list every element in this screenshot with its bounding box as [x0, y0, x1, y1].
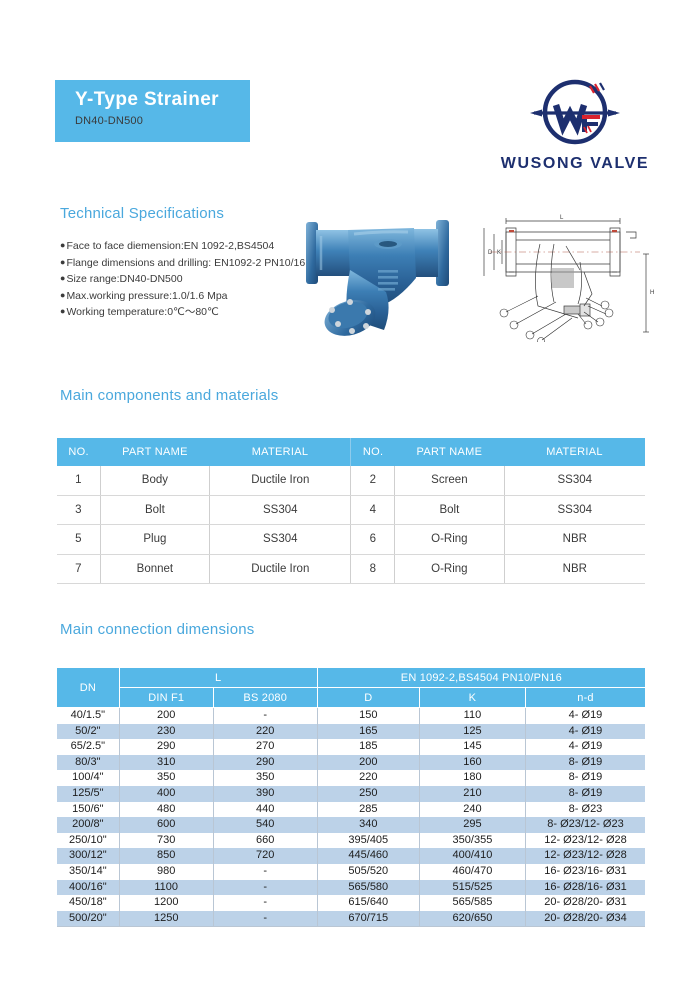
cell-k: 565/585: [419, 895, 525, 911]
cell-d: 165: [317, 724, 419, 740]
table-row: 7 Bonnet Ductile Iron 8 O-Ring NBR: [57, 554, 645, 584]
cell-dn: 200/8": [57, 817, 119, 833]
cell-k: 350/355: [419, 833, 525, 849]
cell-din: 400: [119, 786, 213, 802]
cell-nd: 8- Ø19: [526, 755, 646, 771]
cell-din: 1100: [119, 880, 213, 896]
spec-item: ●Max.working pressure:1.0/1.6 Mpa: [60, 288, 310, 305]
dim-col-bs2080: BS 2080: [213, 688, 317, 708]
table-row: 5 Plug SS304 6 O-Ring NBR: [57, 525, 645, 555]
cell-part: Bonnet: [100, 554, 209, 584]
spec-text: Flange dimensions and drilling: EN1092-2…: [66, 257, 305, 269]
materials-col-no-2: NO.: [351, 438, 395, 466]
cell-no: 8: [351, 554, 395, 584]
table-row: 450/18"1200-615/640565/58520- Ø28/20- Ø3…: [57, 895, 645, 911]
cell-bs: -: [213, 864, 317, 880]
cell-bs: 270: [213, 739, 317, 755]
cell-d: 185: [317, 739, 419, 755]
cell-no: 5: [57, 525, 100, 555]
cell-k: 460/470: [419, 864, 525, 880]
table-row: 3 Bolt SS304 4 Bolt SS304: [57, 495, 645, 525]
cell-material: SS304: [210, 495, 351, 525]
cell-nd: 12- Ø23/12- Ø28: [526, 848, 646, 864]
cross-section-drawing: L D K H: [480, 214, 660, 342]
cell-din: 350: [119, 770, 213, 786]
cell-d: 250: [317, 786, 419, 802]
cell-part: Body: [100, 466, 209, 495]
materials-table-header-row: NO. PART NAME MATERIAL NO. PART NAME MAT…: [57, 438, 645, 466]
cell-bs: 720: [213, 848, 317, 864]
cell-k: 295: [419, 817, 525, 833]
dimensions-sub-header-row: DIN F1 BS 2080 D K n-d: [57, 688, 645, 708]
product-photo: [288, 214, 473, 344]
dim-group-l: L: [119, 668, 317, 688]
cell-dn: 125/5": [57, 786, 119, 802]
title-banner: Y-Type Strainer DN40-DN500: [55, 80, 250, 142]
dim-col-dn: DN: [57, 668, 119, 708]
cell-k: 110: [419, 708, 525, 724]
table-row: 1 Body Ductile Iron 2 Screen SS304: [57, 466, 645, 495]
cell-bs: -: [213, 708, 317, 724]
dimensions-table-body: 40/1.5"200-1501104- Ø19 50/2"23022016512…: [57, 708, 645, 927]
spec-text: Working temperature:0℃～80℃: [66, 306, 218, 318]
brand-logo: WUSONG VALVE: [490, 75, 660, 185]
table-row: 150/6"4804402852408- Ø23: [57, 802, 645, 818]
cell-d: 615/640: [317, 895, 419, 911]
section-heading-dimensions: Main connection dimensions: [60, 621, 254, 638]
cell-bs: -: [213, 880, 317, 896]
cell-part: Plug: [100, 525, 209, 555]
cell-d: 200: [317, 755, 419, 771]
spec-text: Max.working pressure:1.0/1.6 Mpa: [66, 290, 227, 302]
cell-part: O-Ring: [395, 525, 504, 555]
cell-bs: 440: [213, 802, 317, 818]
cell-nd: 20- Ø28/20- Ø31: [526, 895, 646, 911]
cell-k: 240: [419, 802, 525, 818]
cell-no: 7: [57, 554, 100, 584]
table-row: 500/20"1250-670/715620/65020- Ø28/20- Ø3…: [57, 911, 645, 927]
cell-nd: 8- Ø19: [526, 786, 646, 802]
cell-d: 285: [317, 802, 419, 818]
cell-d: 565/580: [317, 880, 419, 896]
cell-nd: 4- Ø19: [526, 739, 646, 755]
spec-text: Face to face diemension:EN 1092-2,BS4504: [66, 240, 274, 252]
page-subtitle: DN40-DN500: [75, 114, 250, 129]
cell-no: 2: [351, 466, 395, 495]
table-row: 80/3"3102902001608- Ø19: [57, 755, 645, 771]
cell-part: Bolt: [395, 495, 504, 525]
bullet-icon: ●: [60, 257, 65, 267]
table-row: 100/4"3503502201808- Ø19: [57, 770, 645, 786]
table-row: 200/8"6005403402958- Ø23/12- Ø23: [57, 817, 645, 833]
cell-d: 395/405: [317, 833, 419, 849]
cell-bs: -: [213, 895, 317, 911]
dimensions-group-header-row: DN L EN 1092-2,BS4504 PN10/PN16: [57, 668, 645, 688]
table-row: 300/12"850720445/460400/41012- Ø23/12- Ø…: [57, 848, 645, 864]
section-heading-technical: Technical Specifications: [60, 205, 224, 222]
page-title: Y-Type Strainer: [75, 89, 250, 111]
materials-table: NO. PART NAME MATERIAL NO. PART NAME MAT…: [57, 438, 645, 584]
materials-col-part-2: PART NAME: [395, 438, 504, 466]
cell-k: 400/410: [419, 848, 525, 864]
cell-bs: 540: [213, 817, 317, 833]
bullet-icon: ●: [60, 273, 65, 283]
cell-dn: 450/18": [57, 895, 119, 911]
cell-dn: 400/16": [57, 880, 119, 896]
cell-nd: 8- Ø19: [526, 770, 646, 786]
materials-col-mat-1: MATERIAL: [210, 438, 351, 466]
cell-k: 515/525: [419, 880, 525, 896]
cell-bs: 660: [213, 833, 317, 849]
cell-din: 200: [119, 708, 213, 724]
cell-din: 230: [119, 724, 213, 740]
cell-din: 1250: [119, 911, 213, 927]
page-header: Y-Type Strainer DN40-DN500: [0, 0, 700, 200]
cell-nd: 16- Ø28/16- Ø31: [526, 880, 646, 896]
cell-d: 505/520: [317, 864, 419, 880]
cell-din: 600: [119, 817, 213, 833]
materials-col-no-1: NO.: [57, 438, 100, 466]
cell-din: 850: [119, 848, 213, 864]
cell-no: 3: [57, 495, 100, 525]
cell-d: 220: [317, 770, 419, 786]
drawing-dim-k: K: [497, 250, 501, 256]
table-row: 350/14"980-505/520460/47016- Ø23/16- Ø31: [57, 864, 645, 880]
cell-dn: 50/2": [57, 724, 119, 740]
technical-spec-list: ●Face to face diemension:EN 1092-2,BS450…: [60, 238, 310, 321]
cell-dn: 300/12": [57, 848, 119, 864]
cell-bs: 290: [213, 755, 317, 771]
cell-material: SS304: [210, 525, 351, 555]
cell-dn: 40/1.5": [57, 708, 119, 724]
dim-group-en: EN 1092-2,BS4504 PN10/PN16: [317, 668, 645, 688]
spec-item: ●Face to face diemension:EN 1092-2,BS450…: [60, 238, 310, 255]
materials-col-mat-2: MATERIAL: [504, 438, 645, 466]
brand-name: WUSONG VALVE: [490, 155, 660, 173]
table-row: 65/2.5"2902701851454- Ø19: [57, 739, 645, 755]
drawing-dim-d: D: [488, 250, 493, 256]
cell-k: 125: [419, 724, 525, 740]
cell-k: 145: [419, 739, 525, 755]
dim-col-k: K: [419, 688, 525, 708]
cell-k: 160: [419, 755, 525, 771]
cell-material: Ductile Iron: [210, 554, 351, 584]
dim-col-d: D: [317, 688, 419, 708]
cell-d: 340: [317, 817, 419, 833]
cell-din: 480: [119, 802, 213, 818]
cell-nd: 8- Ø23/12- Ø23: [526, 817, 646, 833]
bullet-icon: ●: [60, 240, 65, 250]
cell-bs: -: [213, 911, 317, 927]
cell-d: 150: [317, 708, 419, 724]
cell-nd: 4- Ø19: [526, 724, 646, 740]
cell-dn: 100/4": [57, 770, 119, 786]
cell-part: O-Ring: [395, 554, 504, 584]
table-row: 125/5"4003902502108- Ø19: [57, 786, 645, 802]
cell-din: 290: [119, 739, 213, 755]
cell-bs: 350: [213, 770, 317, 786]
cell-nd: 4- Ø19: [526, 708, 646, 724]
cell-dn: 500/20": [57, 911, 119, 927]
cell-material: Ductile Iron: [210, 466, 351, 495]
cell-part: Bolt: [100, 495, 209, 525]
table-row: 250/10"730660395/405350/35512- Ø23/12- Ø…: [57, 833, 645, 849]
section-heading-materials: Main components and materials: [60, 387, 278, 404]
cell-d: 445/460: [317, 848, 419, 864]
materials-col-part-1: PART NAME: [100, 438, 209, 466]
cell-material: SS304: [504, 495, 645, 525]
spec-item: ●Size range:DN40-DN500: [60, 271, 310, 288]
bullet-icon: ●: [60, 306, 65, 316]
wusong-logo-icon: [520, 75, 630, 153]
bullet-icon: ●: [60, 290, 65, 300]
cell-nd: 20- Ø28/20- Ø34: [526, 911, 646, 927]
cell-no: 4: [351, 495, 395, 525]
cell-k: 210: [419, 786, 525, 802]
cell-nd: 16- Ø23/16- Ø31: [526, 864, 646, 880]
spec-text: Size range:DN40-DN500: [66, 273, 182, 285]
table-row: 400/16"1100-565/580515/52516- Ø28/16- Ø3…: [57, 880, 645, 896]
cell-dn: 250/10": [57, 833, 119, 849]
table-row: 50/2"2302201651254- Ø19: [57, 724, 645, 740]
table-row: 40/1.5"200-1501104- Ø19: [57, 708, 645, 724]
dim-col-nd: n-d: [526, 688, 646, 708]
cell-dn: 65/2.5": [57, 739, 119, 755]
dimensions-table: DN L EN 1092-2,BS4504 PN10/PN16 DIN F1 B…: [57, 668, 645, 927]
datasheet-page: Y-Type Strainer DN40-DN500: [0, 0, 700, 1001]
cell-bs: 390: [213, 786, 317, 802]
cell-din: 310: [119, 755, 213, 771]
cell-din: 1200: [119, 895, 213, 911]
dim-col-din-f1: DIN F1: [119, 688, 213, 708]
cell-no: 6: [351, 525, 395, 555]
cell-material: NBR: [504, 554, 645, 584]
drawing-dim-h: H: [650, 290, 654, 296]
cell-din: 730: [119, 833, 213, 849]
cell-nd: 8- Ø23: [526, 802, 646, 818]
cell-din: 980: [119, 864, 213, 880]
cell-dn: 350/14": [57, 864, 119, 880]
drawing-dim-l: L: [560, 215, 564, 221]
spec-item: ●Flange dimensions and drilling: EN1092-…: [60, 255, 310, 272]
spec-item: ●Working temperature:0℃～80℃: [60, 304, 310, 321]
cell-k: 180: [419, 770, 525, 786]
cell-bs: 220: [213, 724, 317, 740]
cell-nd: 12- Ø23/12- Ø28: [526, 833, 646, 849]
cell-d: 670/715: [317, 911, 419, 927]
cell-material: SS304: [504, 466, 645, 495]
cell-k: 620/650: [419, 911, 525, 927]
cell-dn: 80/3": [57, 755, 119, 771]
cell-material: NBR: [504, 525, 645, 555]
cell-dn: 150/6": [57, 802, 119, 818]
cell-no: 1: [57, 466, 100, 495]
cell-part: Screen: [395, 466, 504, 495]
